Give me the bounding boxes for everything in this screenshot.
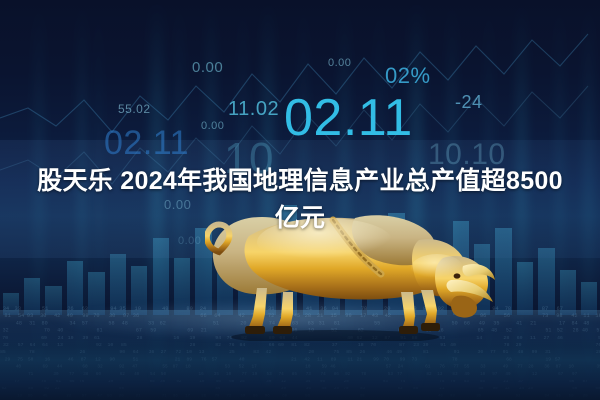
svg-text:62: 62 — [120, 372, 126, 377]
svg-text:40: 40 — [582, 328, 588, 334]
svg-text:63: 63 — [82, 306, 88, 312]
svg-text:59: 59 — [569, 394, 574, 398]
svg-text:70: 70 — [93, 313, 99, 319]
svg-text:36: 36 — [544, 365, 550, 370]
svg-text:79: 79 — [450, 380, 456, 384]
svg-text:66: 66 — [70, 380, 76, 384]
svg-text:27: 27 — [161, 349, 167, 355]
svg-text:99: 99 — [400, 356, 406, 362]
svg-text:76: 76 — [596, 342, 600, 348]
svg-text:21: 21 — [530, 320, 536, 326]
svg-text:12: 12 — [532, 372, 538, 377]
svg-text:82: 82 — [304, 342, 310, 348]
svg-text:83: 83 — [253, 349, 259, 355]
svg-text:50: 50 — [572, 387, 577, 391]
svg-text:19: 19 — [546, 356, 552, 362]
svg-text:25: 25 — [528, 387, 533, 391]
svg-text:17: 17 — [185, 394, 190, 398]
svg-text:90: 90 — [110, 356, 116, 362]
svg-text:99: 99 — [373, 356, 379, 362]
svg-text:55: 55 — [464, 365, 470, 370]
svg-text:45: 45 — [322, 387, 327, 391]
svg-text:16: 16 — [45, 356, 51, 362]
svg-text:70: 70 — [370, 342, 376, 348]
svg-text:34: 34 — [69, 320, 75, 326]
svg-text:21: 21 — [291, 356, 297, 362]
svg-text:78: 78 — [504, 342, 510, 348]
svg-text:25: 25 — [334, 387, 339, 391]
svg-text:53: 53 — [107, 394, 112, 398]
svg-text:35: 35 — [119, 306, 125, 312]
svg-text:11: 11 — [530, 335, 536, 341]
svg-text:87: 87 — [583, 380, 589, 384]
svg-text:91: 91 — [503, 349, 509, 355]
svg-text:74: 74 — [321, 372, 327, 377]
svg-text:30: 30 — [53, 372, 59, 377]
svg-text:73: 73 — [306, 372, 312, 377]
svg-text:64: 64 — [133, 349, 139, 355]
banner-image: 0.000.0055.0211.020.0002%-2402.1102.1110… — [0, 0, 600, 400]
svg-text:22: 22 — [66, 394, 71, 398]
svg-text:26: 26 — [67, 306, 73, 312]
svg-text:28: 28 — [344, 380, 350, 384]
svg-text:99: 99 — [532, 349, 538, 355]
svg-text:87: 87 — [542, 306, 548, 312]
background-number: 0.00 — [192, 60, 223, 75]
svg-text:86: 86 — [173, 394, 178, 398]
svg-text:30: 30 — [478, 349, 484, 355]
svg-text:44: 44 — [57, 365, 63, 370]
background-number: 11.02 — [228, 99, 279, 119]
svg-text:29: 29 — [108, 380, 114, 384]
svg-text:85: 85 — [292, 372, 298, 377]
svg-text:40: 40 — [16, 365, 22, 370]
svg-text:46: 46 — [216, 380, 222, 384]
svg-text:46: 46 — [386, 349, 392, 355]
svg-text:94: 94 — [110, 306, 116, 312]
svg-text:51: 51 — [133, 356, 139, 362]
svg-text:22: 22 — [55, 387, 60, 391]
svg-text:60: 60 — [596, 387, 600, 391]
svg-text:11: 11 — [317, 356, 323, 362]
svg-text:31: 31 — [545, 349, 551, 355]
svg-text:63: 63 — [398, 387, 403, 391]
svg-text:97: 97 — [572, 372, 578, 377]
svg-text:13: 13 — [57, 342, 63, 348]
svg-text:78: 78 — [29, 349, 35, 355]
svg-text:77: 77 — [242, 372, 248, 377]
svg-text:76: 76 — [440, 365, 446, 370]
svg-text:47: 47 — [132, 365, 138, 370]
svg-text:53: 53 — [388, 372, 394, 377]
svg-text:12: 12 — [281, 380, 287, 384]
svg-text:39: 39 — [423, 342, 429, 348]
svg-text:96: 96 — [265, 394, 270, 398]
svg-text:56: 56 — [569, 380, 575, 384]
svg-text:33: 33 — [15, 306, 21, 312]
svg-text:77: 77 — [517, 365, 523, 370]
svg-text:30: 30 — [109, 313, 115, 319]
svg-text:28: 28 — [573, 328, 579, 334]
svg-text:46: 46 — [68, 356, 74, 362]
svg-text:61: 61 — [56, 380, 62, 384]
svg-text:10: 10 — [569, 365, 575, 370]
svg-text:36: 36 — [133, 313, 139, 319]
svg-text:66: 66 — [28, 394, 33, 398]
svg-text:21: 21 — [439, 387, 444, 391]
svg-text:75: 75 — [334, 349, 340, 355]
svg-text:69: 69 — [282, 394, 287, 398]
svg-text:19: 19 — [252, 372, 258, 377]
svg-text:70: 70 — [2, 335, 8, 341]
background-number: 02.11 — [284, 92, 413, 144]
svg-text:20: 20 — [308, 349, 314, 355]
svg-text:48: 48 — [518, 349, 524, 355]
svg-text:10: 10 — [305, 365, 311, 370]
svg-text:62: 62 — [160, 320, 166, 326]
svg-text:94: 94 — [545, 394, 550, 398]
svg-text:69: 69 — [43, 365, 49, 370]
svg-text:91: 91 — [440, 342, 446, 348]
svg-text:21: 21 — [357, 356, 363, 362]
svg-text:57: 57 — [18, 342, 24, 348]
svg-text:59: 59 — [322, 365, 328, 370]
svg-text:23: 23 — [413, 342, 419, 348]
svg-text:32: 32 — [97, 365, 103, 370]
svg-text:85: 85 — [346, 349, 352, 355]
svg-text:97: 97 — [492, 372, 498, 377]
svg-text:42: 42 — [571, 313, 577, 319]
svg-text:52: 52 — [506, 328, 512, 334]
svg-text:19: 19 — [190, 335, 196, 341]
svg-text:46: 46 — [557, 335, 563, 341]
svg-text:92: 92 — [345, 372, 351, 377]
svg-text:28: 28 — [137, 335, 143, 341]
svg-text:72: 72 — [227, 394, 232, 398]
svg-text:36: 36 — [149, 349, 155, 355]
svg-text:85: 85 — [413, 387, 418, 391]
svg-text:32: 32 — [3, 342, 9, 348]
svg-text:78: 78 — [505, 306, 511, 312]
svg-text:19: 19 — [595, 313, 600, 319]
background-number: 0.00 — [201, 121, 224, 132]
svg-text:89: 89 — [331, 356, 337, 362]
svg-text:75: 75 — [439, 380, 445, 384]
svg-text:86: 86 — [334, 372, 340, 377]
background-number: 55.02 — [118, 103, 151, 115]
svg-text:89: 89 — [186, 306, 192, 312]
page-title: 股天乐 2024年我国地理信息产业总产值超8500 亿元 — [0, 163, 600, 236]
svg-text:28: 28 — [583, 394, 588, 398]
svg-text:93: 93 — [27, 313, 33, 319]
svg-text:87: 87 — [81, 356, 87, 362]
svg-text:77: 77 — [14, 380, 20, 384]
svg-text:26: 26 — [80, 349, 86, 355]
svg-text:97: 97 — [82, 394, 87, 398]
svg-text:90: 90 — [119, 349, 125, 355]
svg-text:51: 51 — [545, 328, 551, 334]
svg-text:53: 53 — [267, 372, 273, 377]
svg-text:28: 28 — [503, 335, 509, 341]
svg-text:85: 85 — [121, 342, 127, 348]
svg-text:52: 52 — [557, 328, 563, 334]
svg-text:35: 35 — [597, 365, 600, 370]
svg-text:58: 58 — [108, 320, 114, 326]
svg-text:74: 74 — [400, 380, 406, 384]
svg-text:21: 21 — [175, 356, 181, 362]
svg-text:57: 57 — [596, 328, 600, 334]
svg-text:77: 77 — [69, 372, 75, 377]
svg-text:47: 47 — [97, 394, 102, 398]
svg-text:85: 85 — [556, 394, 561, 398]
svg-text:24: 24 — [398, 365, 404, 370]
svg-text:13: 13 — [505, 387, 510, 391]
svg-text:92: 92 — [96, 342, 102, 348]
svg-text:52: 52 — [239, 365, 245, 370]
svg-text:25: 25 — [240, 380, 246, 384]
svg-text:55: 55 — [253, 394, 258, 398]
svg-text:33: 33 — [480, 365, 486, 370]
headline-line-2: 亿元 — [275, 204, 326, 232]
svg-text:99: 99 — [82, 313, 88, 319]
svg-text:49: 49 — [505, 372, 511, 377]
svg-text:48: 48 — [122, 320, 128, 326]
background-number: 02.11 — [104, 126, 189, 160]
background-number: 02% — [385, 65, 431, 87]
svg-text:74: 74 — [279, 372, 285, 377]
svg-text:32: 32 — [3, 328, 9, 334]
svg-text:62: 62 — [2, 387, 7, 391]
svg-text:40: 40 — [57, 328, 63, 334]
svg-text:87: 87 — [173, 365, 179, 370]
svg-text:54: 54 — [150, 372, 156, 377]
svg-text:18: 18 — [358, 342, 364, 348]
svg-text:19: 19 — [68, 335, 74, 341]
svg-text:70: 70 — [44, 328, 50, 334]
svg-text:40: 40 — [239, 356, 245, 362]
svg-text:84: 84 — [240, 342, 246, 348]
svg-text:50: 50 — [161, 372, 167, 377]
svg-text:85: 85 — [0, 349, 6, 355]
svg-text:97: 97 — [123, 313, 129, 319]
svg-text:82: 82 — [215, 342, 221, 348]
svg-text:85: 85 — [28, 387, 33, 391]
svg-text:36: 36 — [160, 380, 166, 384]
svg-text:45: 45 — [43, 394, 48, 398]
svg-text:49: 49 — [464, 372, 470, 377]
svg-text:71: 71 — [28, 372, 34, 377]
svg-text:81: 81 — [291, 342, 297, 348]
svg-text:77: 77 — [397, 372, 403, 377]
svg-text:56: 56 — [305, 394, 310, 398]
svg-text:35: 35 — [214, 372, 220, 377]
svg-text:50: 50 — [28, 356, 34, 362]
svg-text:10: 10 — [480, 372, 486, 377]
svg-text:24: 24 — [519, 387, 524, 391]
svg-text:40: 40 — [450, 342, 456, 348]
svg-text:10: 10 — [226, 372, 232, 377]
svg-text:40: 40 — [67, 313, 73, 319]
svg-text:12: 12 — [95, 356, 101, 362]
svg-text:28: 28 — [190, 342, 196, 348]
svg-text:26: 26 — [360, 349, 366, 355]
svg-text:37: 37 — [332, 342, 338, 348]
svg-text:30: 30 — [40, 313, 46, 319]
svg-text:17: 17 — [559, 320, 565, 326]
svg-text:56: 56 — [504, 313, 510, 319]
svg-text:55: 55 — [480, 380, 486, 384]
svg-text:39: 39 — [281, 387, 286, 391]
svg-text:70: 70 — [344, 387, 349, 391]
svg-text:37: 37 — [518, 380, 524, 384]
svg-text:67: 67 — [557, 306, 563, 312]
svg-text:61: 61 — [425, 365, 431, 370]
svg-text:27: 27 — [544, 335, 550, 341]
headline-line-1: 股天乐 2024年我国地理信息产业总产值超8500 — [37, 167, 563, 195]
svg-text:71: 71 — [162, 394, 167, 398]
svg-text:93: 93 — [383, 380, 389, 384]
svg-text:13: 13 — [437, 372, 443, 377]
svg-text:78: 78 — [361, 372, 367, 377]
svg-text:36: 36 — [306, 387, 311, 391]
svg-text:29: 29 — [516, 342, 522, 348]
svg-text:57: 57 — [82, 320, 88, 326]
svg-text:38: 38 — [201, 394, 206, 398]
svg-text:83: 83 — [360, 387, 365, 391]
svg-text:46: 46 — [330, 365, 336, 370]
svg-text:86: 86 — [215, 387, 220, 391]
svg-text:66: 66 — [269, 342, 275, 348]
svg-text:25: 25 — [229, 349, 235, 355]
svg-text:60: 60 — [96, 372, 102, 377]
svg-text:48: 48 — [16, 320, 22, 326]
svg-text:93: 93 — [450, 394, 455, 398]
svg-text:30: 30 — [266, 380, 272, 384]
svg-text:53: 53 — [464, 380, 470, 384]
svg-text:76: 76 — [201, 356, 207, 362]
svg-text:91: 91 — [454, 349, 460, 355]
svg-text:89: 89 — [187, 356, 193, 362]
svg-text:21: 21 — [503, 380, 509, 384]
svg-text:77: 77 — [490, 349, 496, 355]
svg-text:65: 65 — [150, 380, 156, 384]
svg-text:51: 51 — [42, 306, 48, 312]
svg-text:29: 29 — [5, 356, 11, 362]
svg-text:59: 59 — [241, 394, 246, 398]
svg-text:28: 28 — [528, 365, 534, 370]
svg-text:10: 10 — [185, 365, 191, 370]
svg-text:20: 20 — [119, 394, 124, 398]
svg-text:69: 69 — [187, 328, 193, 334]
svg-text:34: 34 — [306, 380, 312, 384]
svg-text:70: 70 — [384, 356, 390, 362]
svg-text:81: 81 — [423, 349, 429, 355]
svg-text:67: 67 — [136, 328, 142, 334]
svg-text:42: 42 — [304, 356, 310, 362]
svg-text:69: 69 — [41, 335, 47, 341]
background-number: -24 — [455, 93, 483, 111]
svg-text:21: 21 — [136, 394, 141, 398]
svg-text:87: 87 — [556, 365, 562, 370]
svg-text:28: 28 — [596, 349, 600, 355]
svg-text:67: 67 — [558, 372, 564, 377]
svg-text:82: 82 — [426, 372, 432, 377]
svg-text:95: 95 — [320, 380, 326, 384]
svg-text:46: 46 — [438, 394, 443, 398]
svg-text:38: 38 — [83, 372, 89, 377]
svg-text:83: 83 — [452, 372, 458, 377]
svg-text:98: 98 — [556, 313, 562, 319]
svg-text:11: 11 — [583, 313, 589, 319]
svg-text:99: 99 — [493, 387, 498, 391]
svg-text:49: 49 — [396, 349, 402, 355]
svg-text:61: 61 — [94, 335, 100, 341]
svg-text:81: 81 — [4, 313, 10, 319]
svg-text:41: 41 — [516, 320, 522, 326]
svg-text:60: 60 — [82, 365, 88, 370]
svg-text:61: 61 — [97, 328, 103, 334]
svg-text:92: 92 — [44, 387, 49, 391]
svg-text:68: 68 — [506, 356, 512, 362]
svg-text:75: 75 — [41, 380, 47, 384]
svg-text:64: 64 — [42, 342, 48, 348]
svg-text:10: 10 — [186, 349, 192, 355]
svg-text:39: 39 — [476, 394, 481, 398]
svg-text:78: 78 — [452, 356, 458, 362]
svg-text:75: 75 — [17, 356, 23, 362]
svg-text:16: 16 — [199, 372, 205, 377]
svg-text:33: 33 — [148, 320, 154, 326]
svg-text:10: 10 — [108, 342, 114, 348]
svg-text:69: 69 — [517, 335, 523, 341]
svg-text:53: 53 — [225, 365, 231, 370]
svg-text:42: 42 — [266, 349, 272, 355]
svg-text:57: 57 — [555, 356, 561, 362]
svg-text:69: 69 — [278, 342, 284, 348]
svg-text:48: 48 — [583, 320, 589, 326]
svg-text:40: 40 — [134, 372, 140, 377]
svg-text:54: 54 — [18, 313, 24, 319]
svg-text:48: 48 — [479, 387, 484, 391]
svg-text:57: 57 — [386, 365, 392, 370]
svg-text:73: 73 — [542, 313, 548, 319]
svg-text:64: 64 — [30, 342, 36, 348]
svg-text:98: 98 — [119, 387, 124, 391]
svg-text:49: 49 — [503, 365, 509, 370]
svg-text:10: 10 — [135, 306, 141, 312]
svg-text:39: 39 — [82, 335, 88, 341]
svg-text:73: 73 — [412, 356, 418, 362]
svg-text:17: 17 — [252, 365, 258, 370]
svg-text:70: 70 — [215, 394, 220, 398]
svg-text:48: 48 — [162, 306, 168, 312]
svg-text:76: 76 — [229, 342, 235, 348]
svg-text:16: 16 — [173, 335, 179, 341]
svg-text:77: 77 — [453, 365, 459, 370]
svg-text:13: 13 — [17, 394, 22, 398]
svg-text:11: 11 — [348, 356, 354, 362]
svg-text:24: 24 — [58, 335, 64, 341]
svg-text:57: 57 — [212, 356, 218, 362]
background-number: 0.00 — [178, 236, 201, 247]
svg-text:10: 10 — [199, 380, 205, 384]
svg-text:92: 92 — [119, 365, 125, 370]
svg-text:92: 92 — [516, 394, 521, 398]
background-number: 0.00 — [328, 58, 351, 69]
svg-text:68: 68 — [229, 380, 235, 384]
svg-text:68: 68 — [360, 394, 365, 398]
svg-text:59: 59 — [150, 328, 156, 334]
